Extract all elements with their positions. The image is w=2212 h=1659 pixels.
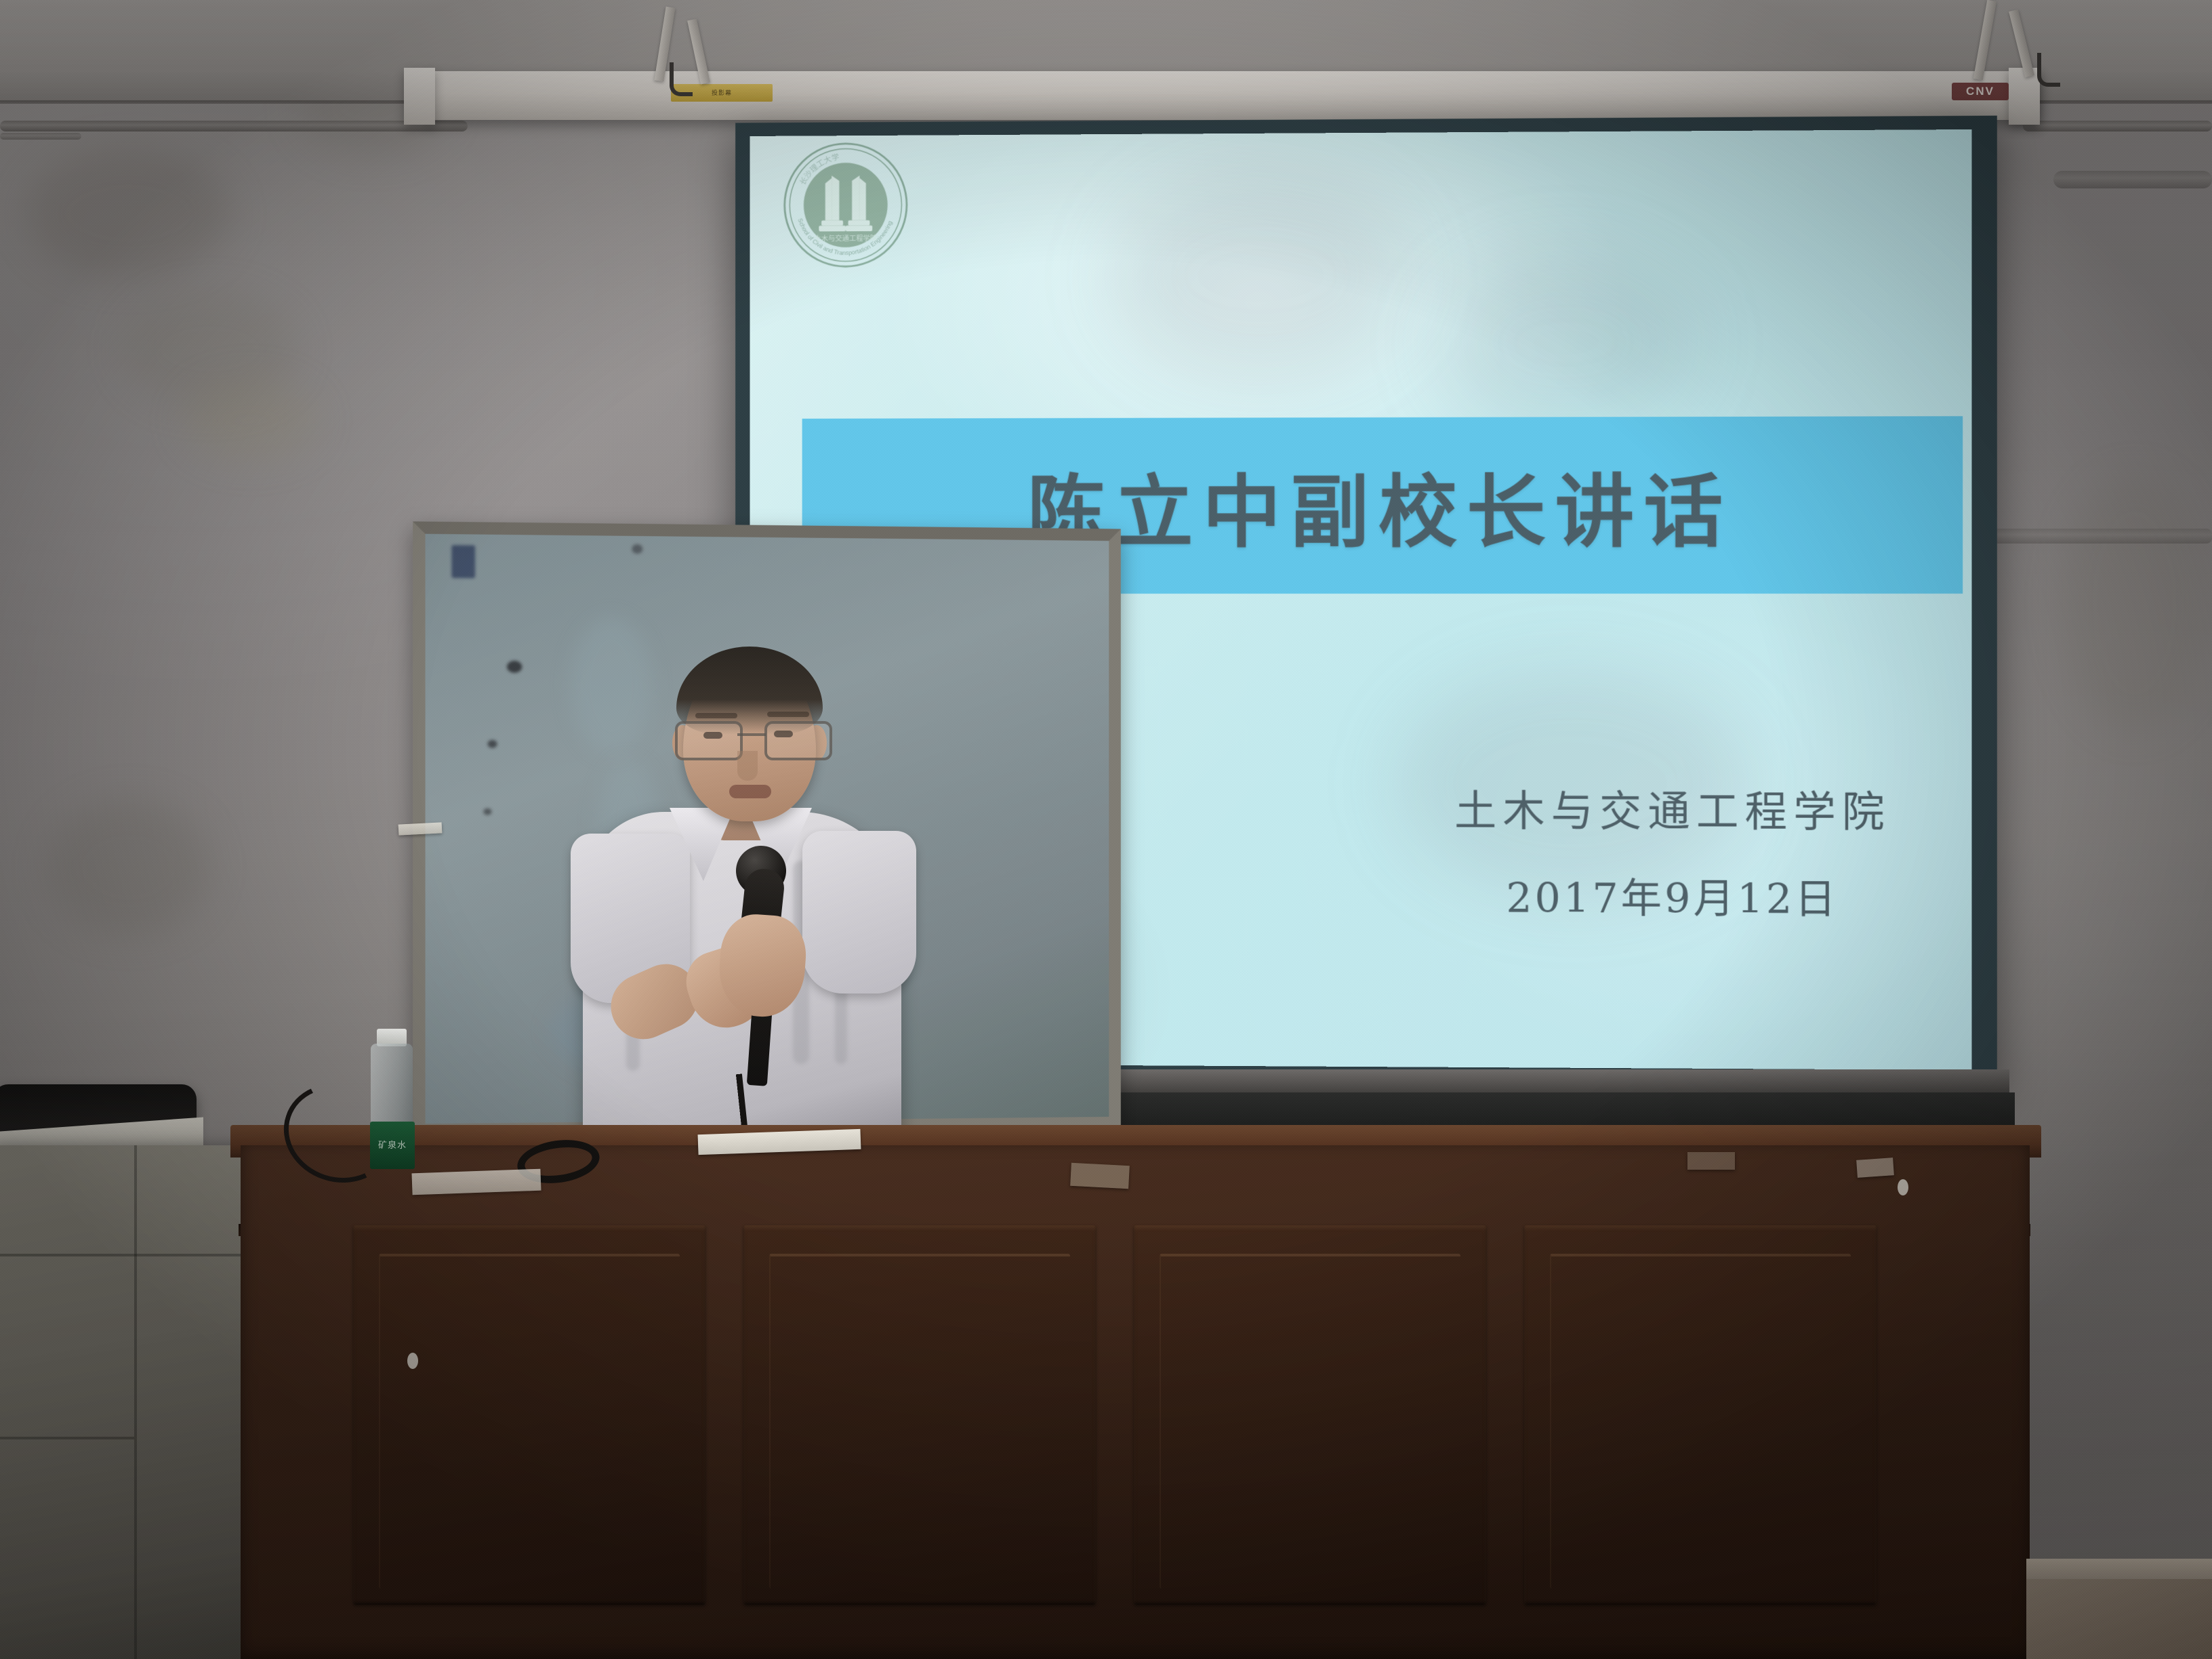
speaker-person xyxy=(569,630,922,1159)
whiteboard-mark xyxy=(483,808,491,815)
whiteboard-mark xyxy=(632,544,642,554)
left-lens xyxy=(675,721,743,760)
lectern-panel-inner xyxy=(379,1254,680,1589)
cabinet-seam xyxy=(0,1254,244,1256)
school-emblem-logo: 土木与交通工程学院 School of Civil and Transporta… xyxy=(782,141,909,270)
wooden-lectern xyxy=(241,1145,2030,1659)
lectern-panel xyxy=(1134,1225,1486,1605)
slide-date: 2017年9月12日 xyxy=(1454,865,1891,926)
whiteboard-mark xyxy=(451,545,475,578)
right-sleeve xyxy=(802,831,916,994)
right-lens xyxy=(764,721,832,760)
scuff-mark-on-rail xyxy=(1070,1163,1130,1189)
glasses-bridge xyxy=(737,733,766,736)
lectern-rail-dot xyxy=(1898,1179,1908,1195)
screen-mount-hook-right xyxy=(2037,53,2060,87)
lectern-panel-inner xyxy=(1550,1254,1851,1589)
screen-brand-label: CNV xyxy=(1952,83,2009,100)
scuff-mark-on-rail xyxy=(1856,1158,1894,1178)
wall-conduit-left xyxy=(0,121,468,131)
whiteboard-mark xyxy=(487,740,497,748)
lectern-panel xyxy=(743,1225,1096,1605)
wall-conduit-far-right xyxy=(2053,171,2212,188)
left-eyebrow xyxy=(695,713,737,718)
projector-screen-housing xyxy=(427,71,2040,120)
lectern-panel-inner xyxy=(1160,1254,1460,1589)
whiteboard-mark xyxy=(507,661,522,673)
lectern-panel xyxy=(1524,1225,1877,1605)
lectern-panel xyxy=(353,1225,705,1605)
lecture-photo-scene: 投影幕 CNV xyxy=(0,0,2212,1659)
nose xyxy=(737,751,758,781)
whiteboard-ledge-note[interactable] xyxy=(398,822,443,835)
housing-end-cap-left xyxy=(404,68,435,125)
screen-mount-hook-left xyxy=(670,62,693,96)
mouth xyxy=(729,785,771,798)
wall-conduit-lower-left xyxy=(0,133,81,140)
floor xyxy=(2026,1579,2212,1659)
cabinet-seam xyxy=(134,1145,137,1659)
right-eyebrow xyxy=(767,712,809,717)
wall-conduit-right xyxy=(2023,121,2212,131)
scuff-mark-on-rail xyxy=(1687,1152,1735,1170)
lectern-panel-dot xyxy=(407,1353,418,1369)
screen-shadow-blob xyxy=(1112,173,1410,377)
lectern-panel-inner xyxy=(769,1254,1070,1589)
slide-organization: 土木与交通工程学院 xyxy=(1454,777,1891,839)
side-cabinet[interactable] xyxy=(0,1145,244,1659)
slide-subtitle-block: 土木与交通工程学院 2017年9月12日 xyxy=(1454,777,1891,926)
screen-shadow-blob xyxy=(1437,253,1696,431)
svg-text:土木与交通工程学院: 土木与交通工程学院 xyxy=(814,234,877,243)
cabinet-seam xyxy=(0,1437,134,1439)
baseboard xyxy=(2026,1559,2212,1582)
paper-strip-on-rail xyxy=(411,1169,541,1195)
